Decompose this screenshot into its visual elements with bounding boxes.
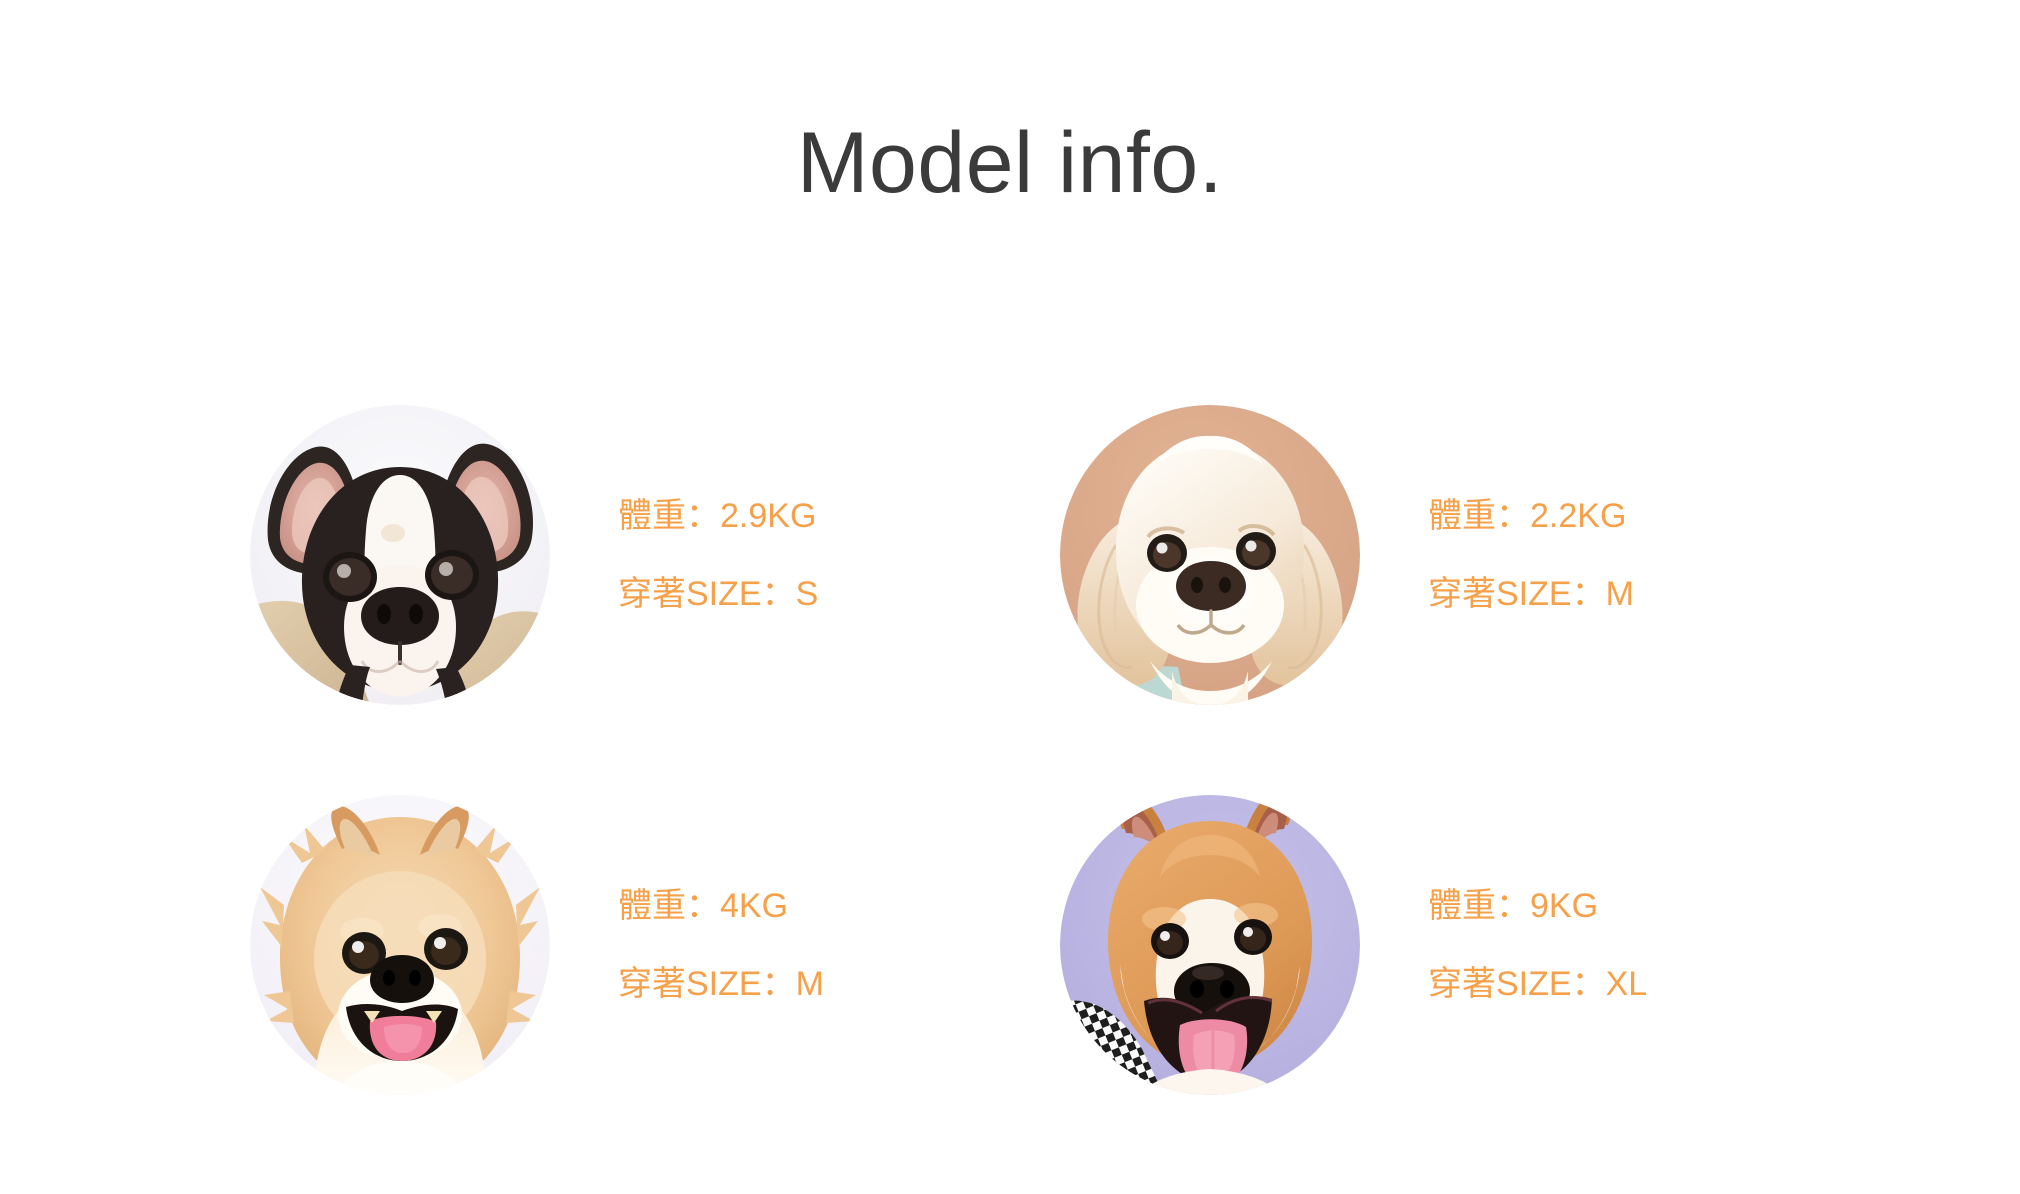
model-card: 體重：4KG 穿著SIZE：M [250, 750, 1060, 1140]
model-size-label: 穿著SIZE：XL [1428, 967, 1647, 1001]
model-card: 體重：9KG 穿著SIZE：XL [1060, 750, 1770, 1140]
chihuahua-portrait-icon [250, 405, 550, 705]
model-avatar [250, 405, 550, 705]
model-size-label: 穿著SIZE：M [1428, 577, 1634, 611]
maltese-portrait-icon [1060, 405, 1360, 705]
pomeranian-portrait-icon [250, 795, 550, 1095]
model-info-page: Model info. [0, 0, 2020, 1194]
model-size-label: 穿著SIZE：M [618, 967, 824, 1001]
model-weight-label: 體重：9KG [1428, 889, 1647, 923]
model-size-label: 穿著SIZE：S [618, 577, 818, 611]
model-specs: 體重：9KG 穿著SIZE：XL [1428, 889, 1647, 1001]
model-weight-label: 體重：2.9KG [618, 499, 818, 533]
models-grid: 體重：2.9KG 穿著SIZE：S [250, 360, 1770, 1140]
model-avatar [1060, 405, 1360, 705]
model-card: 體重：2.9KG 穿著SIZE：S [250, 360, 1060, 750]
model-weight-label: 體重：2.2KG [1428, 499, 1634, 533]
shiba-inu-portrait-icon [1060, 795, 1360, 1095]
page-title: Model info. [0, 120, 2020, 206]
model-avatar [250, 795, 550, 1095]
model-avatar [1060, 795, 1360, 1095]
model-specs: 體重：4KG 穿著SIZE：M [618, 889, 824, 1001]
model-card: 體重：2.2KG 穿著SIZE：M [1060, 360, 1770, 750]
model-specs: 體重：2.9KG 穿著SIZE：S [618, 499, 818, 611]
model-weight-label: 體重：4KG [618, 889, 824, 923]
model-specs: 體重：2.2KG 穿著SIZE：M [1428, 499, 1634, 611]
